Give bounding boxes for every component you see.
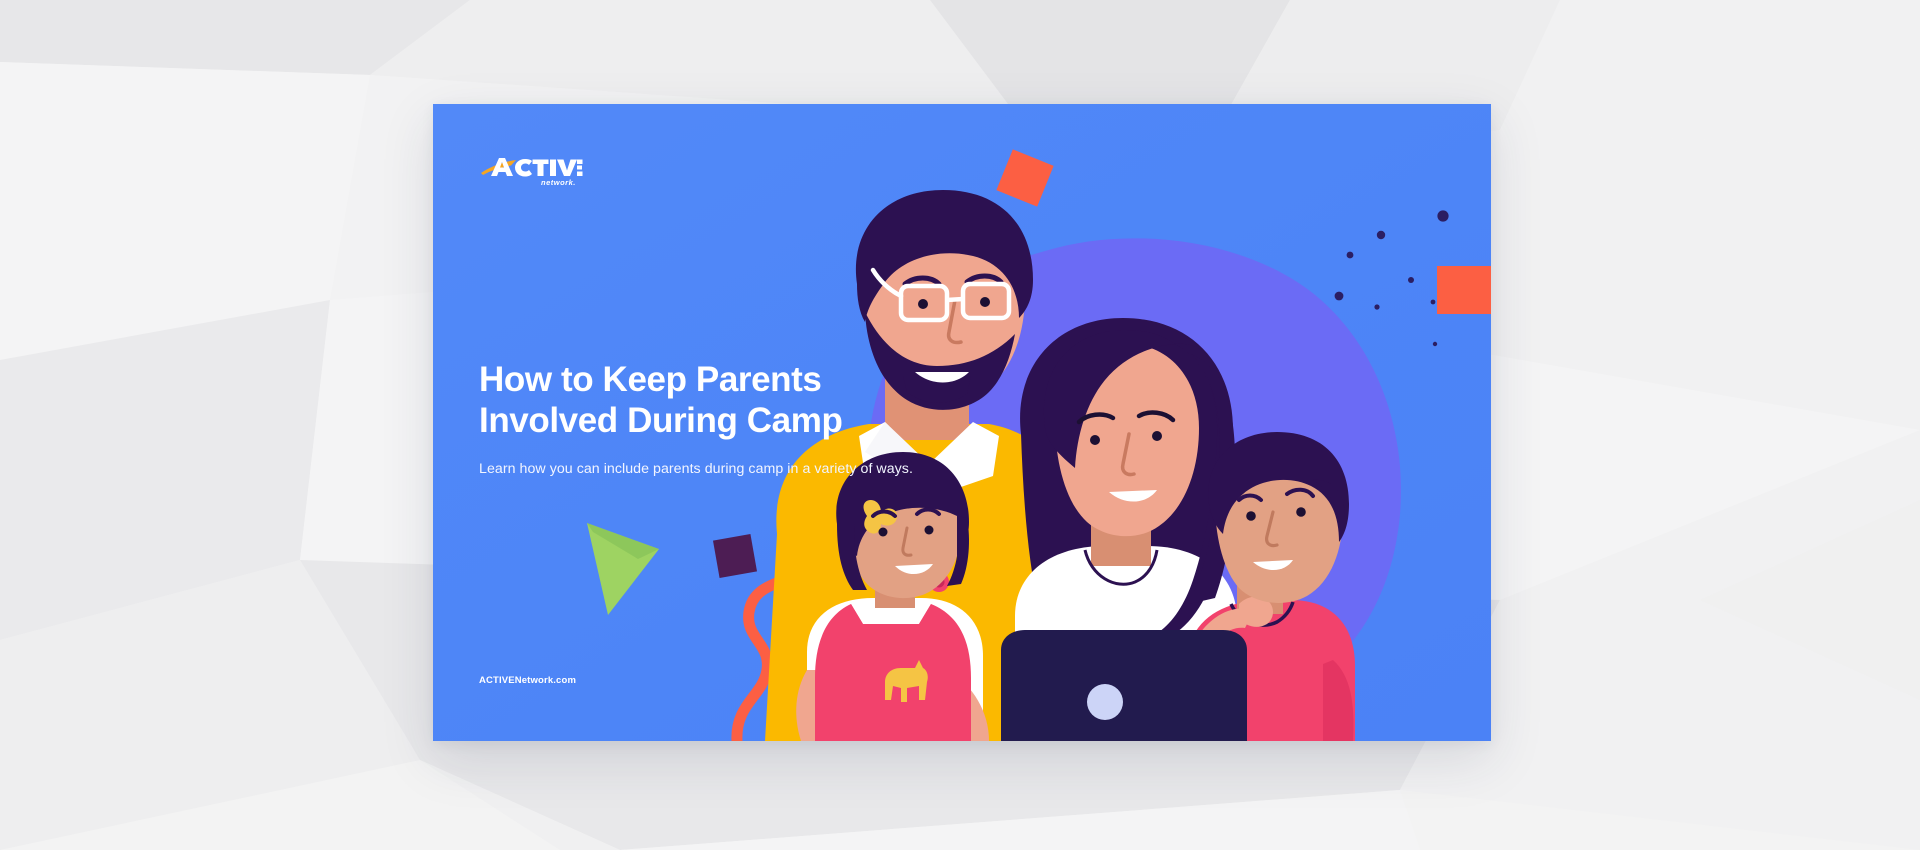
- decoration-plum-square: [713, 534, 757, 578]
- slide-card[interactable]: network. How to Keep Parents Involved Du…: [433, 104, 1491, 741]
- active-network-logo[interactable]: network.: [479, 152, 583, 188]
- page-title: How to Keep Parents Involved During Camp: [479, 359, 1039, 442]
- active-network-logo-svg: network.: [479, 152, 583, 188]
- slide-text-block: How to Keep Parents Involved During Camp…: [479, 359, 1039, 479]
- slide-footer-url[interactable]: ACTIVENetwork.com: [479, 675, 576, 686]
- screenshot-stage: network. How to Keep Parents Involved Du…: [0, 0, 1920, 850]
- slide-subtitle: Learn how you can include parents during…: [479, 459, 1039, 480]
- decoration-coral-square-right: [1437, 266, 1491, 314]
- svg-text:network.: network.: [541, 178, 576, 187]
- laptop: [1001, 630, 1247, 741]
